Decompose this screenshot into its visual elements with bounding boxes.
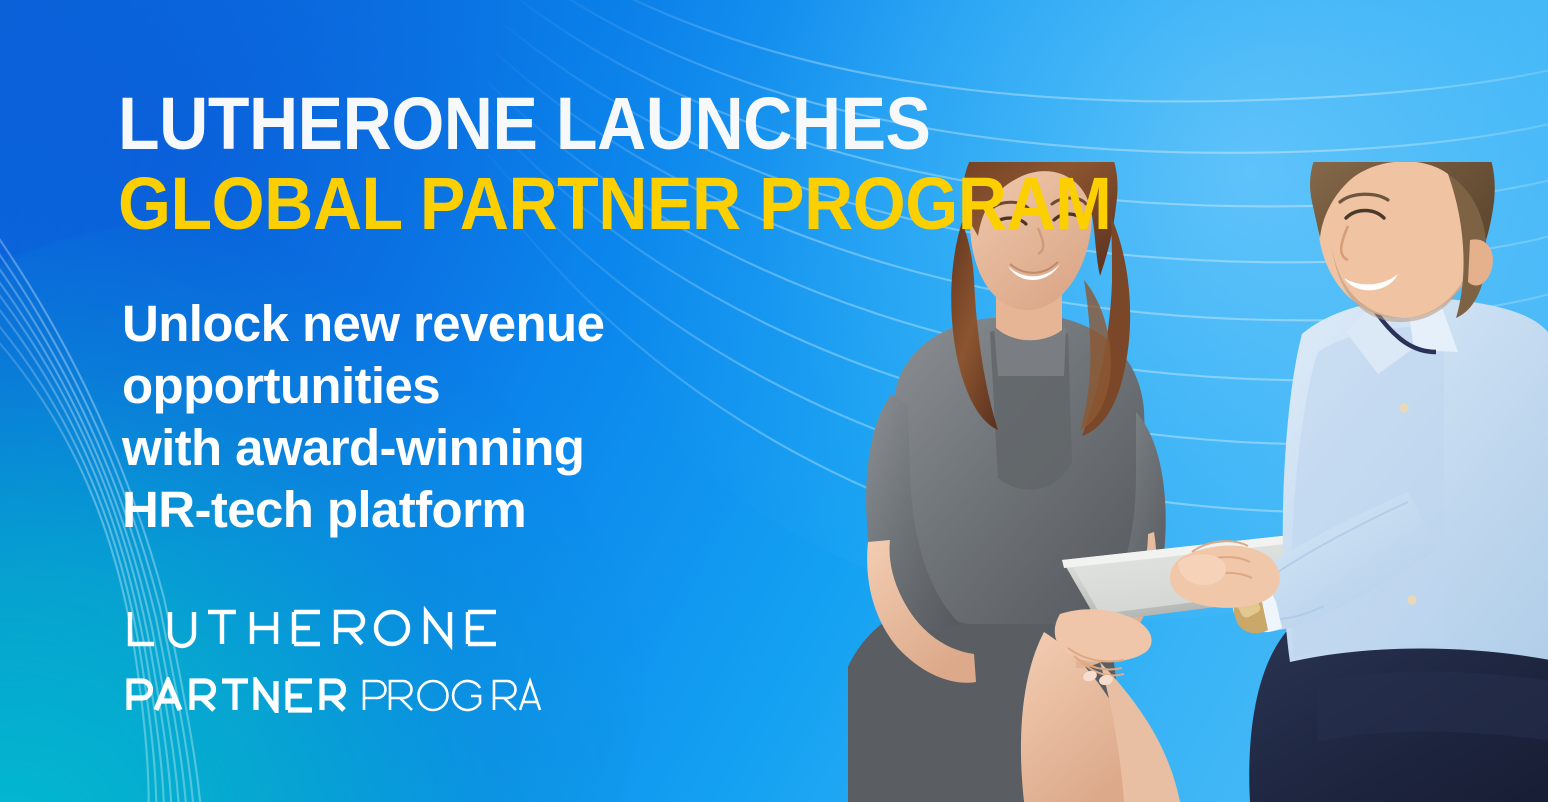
logo-subtitle [124,677,544,718]
subheadline-line-4: HR-tech platform [122,479,604,541]
subheadline-line-3: with award-winning [122,417,604,479]
headline-line-2: GLOBAL PARTNER PROGRAM [118,168,1111,241]
logo-subtitle-glyphs [124,677,544,713]
logo-wordmark-glyphs [124,606,534,650]
subheadline: Unlock new revenue opportunities with aw… [122,293,604,541]
text-content: LUTHERONE LAUNCHES GLOBAL PARTNER PROGRA… [118,0,1238,802]
subheadline-line-1: Unlock new revenue [122,293,604,355]
lutherone-partner-program-logo [124,606,544,718]
subheadline-line-2: opportunities [122,355,604,417]
logo-wordmark [124,606,544,657]
promo-banner: LUTHERONE LAUNCHES GLOBAL PARTNER PROGRA… [0,0,1548,802]
headline: LUTHERONE LAUNCHES GLOBAL PARTNER PROGRA… [118,88,1111,240]
headline-line-1: LUTHERONE LAUNCHES [118,88,1111,161]
